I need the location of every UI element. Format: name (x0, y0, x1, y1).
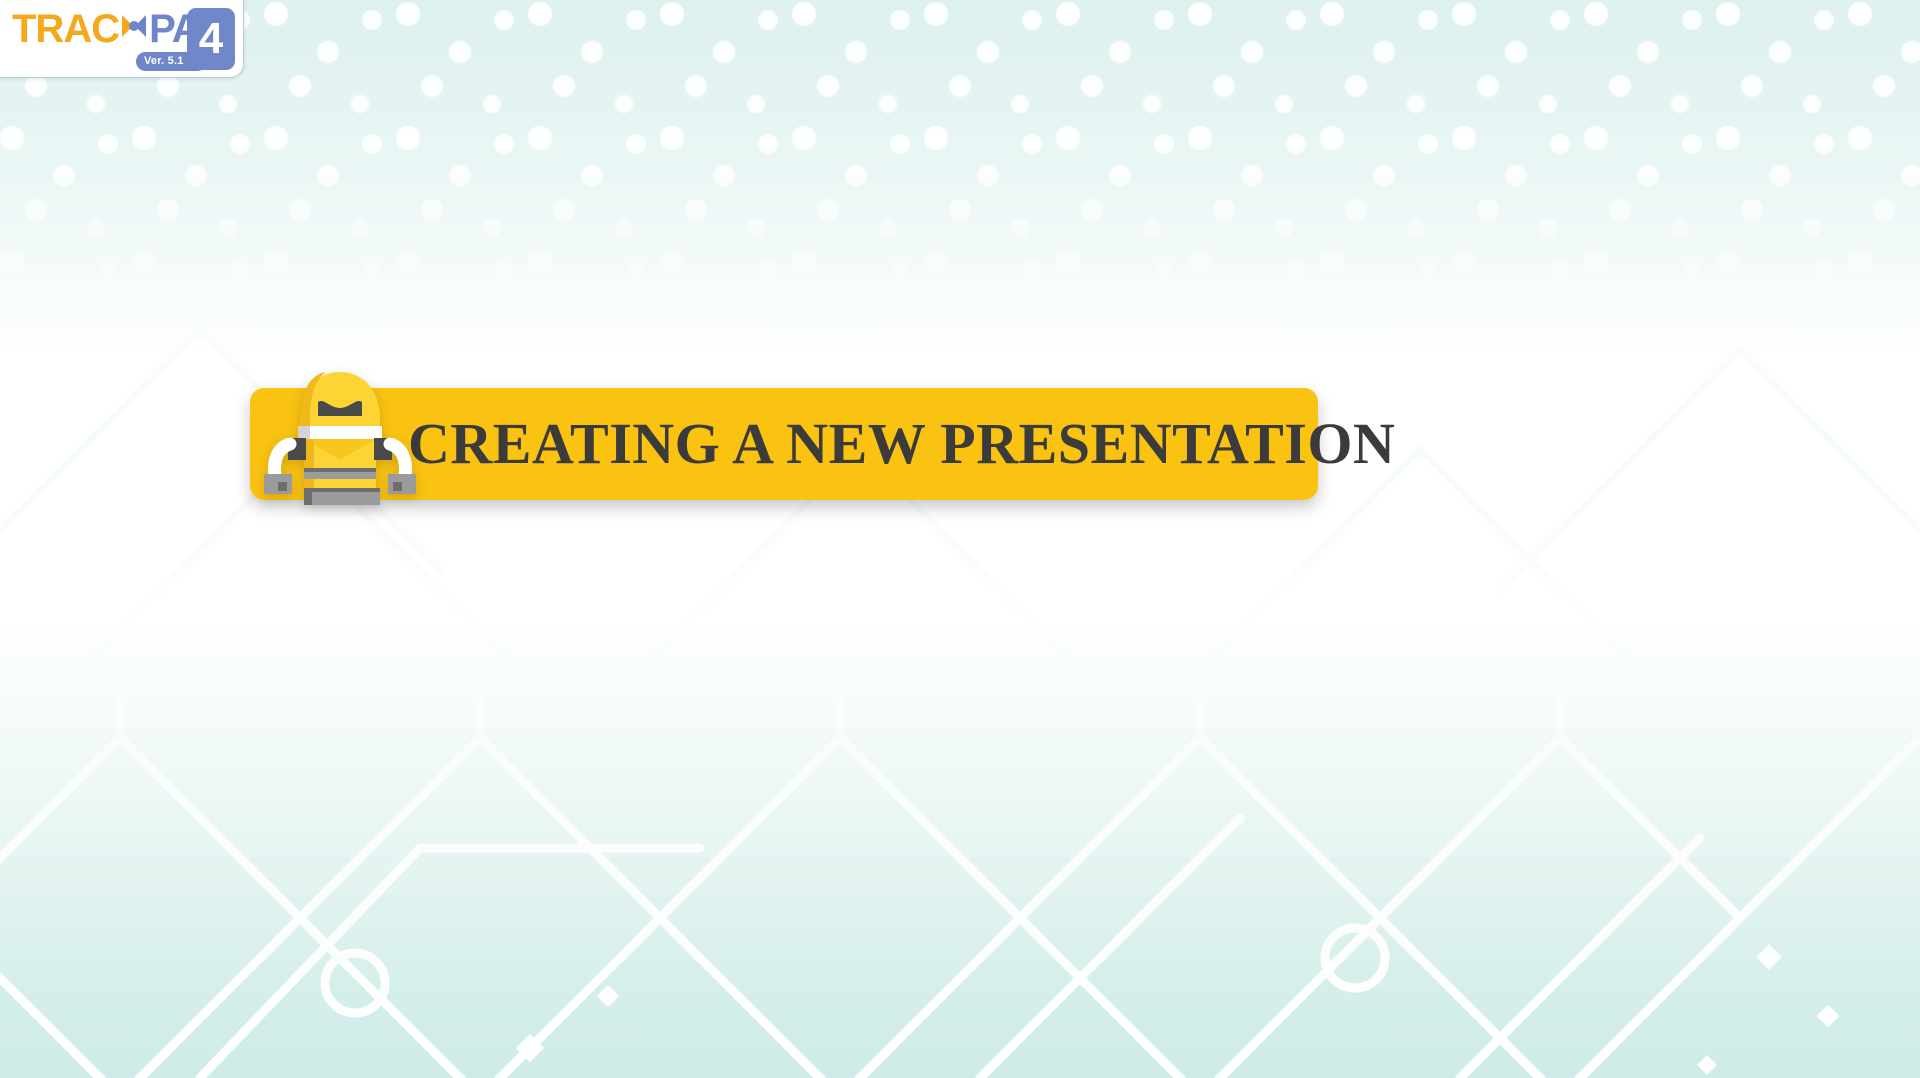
title-banner: CREATING A NEW PRESENTATION (250, 388, 1318, 500)
logo-version-badge: 4 (187, 8, 235, 70)
presentation-slide: TRAC PAD Ver. 5.1 4 (0, 0, 1920, 1078)
logo-word-track: TRAC (12, 7, 119, 51)
logo-propeller-k-icon (119, 9, 149, 49)
background-circuit-pattern (0, 518, 1920, 1078)
trackpad-logo[interactable]: TRAC PAD Ver. 5.1 4 (0, 0, 244, 78)
logo-version-label: Ver. 5.1 (144, 52, 184, 71)
slide-title: CREATING A NEW PRESENTATION (408, 388, 1395, 500)
robot-mascot-icon (260, 368, 420, 508)
